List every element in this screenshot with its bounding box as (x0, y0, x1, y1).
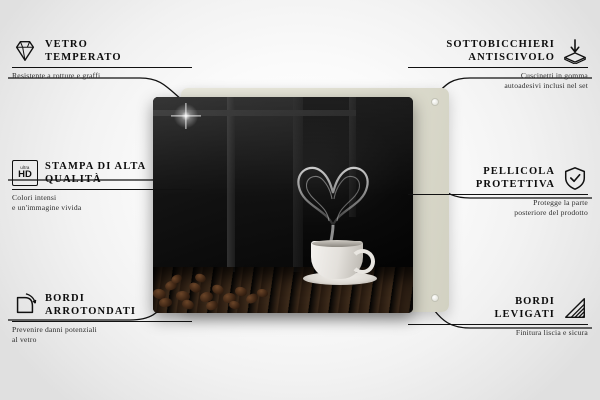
feature-subtitle-line2: e un'immagine vivida (12, 203, 192, 213)
feature-title-line1: BORDI (494, 295, 555, 308)
feature-bordi-arrotondati: BORDI ARROTONDATI Prevenire danni potenz… (12, 292, 192, 345)
coffee-bean (228, 300, 240, 310)
printed-scene (153, 97, 413, 313)
feature-subtitle-line2: al vetro (12, 335, 192, 345)
feature-title-line1: PELLICOLA (476, 165, 555, 178)
feature-title-line2: LEVIGATI (494, 308, 555, 321)
coffee-bean (256, 288, 268, 298)
feature-title-line1: BORDI (45, 292, 136, 305)
feature-title-line1: VETRO (45, 38, 122, 51)
rounded-corner-icon (12, 292, 38, 318)
feature-title-line2: PROTETTIVA (476, 178, 555, 191)
feature-title-line2: TEMPERATO (45, 51, 122, 64)
divider (12, 321, 192, 322)
feature-title-line1: STAMPA DI ALTA (45, 160, 146, 173)
cup-handle (350, 249, 375, 274)
divider (408, 324, 588, 325)
diamond-icon (12, 38, 38, 64)
ultra-hd-badge-icon: ultra HD (12, 160, 38, 186)
feature-sottobicchieri-antiscivolo: SOTTOBICCHIERI ANTISCIVOLO Cuscinetti in… (408, 38, 588, 91)
divider (408, 194, 588, 195)
product-infographic: VETRO TEMPERATO Resistente a rotture e g… (0, 0, 600, 400)
feature-subtitle-line2: posteriore del prodotto (408, 208, 588, 218)
feature-subtitle-line1: Resistente a rotture e graffi (12, 71, 192, 81)
feature-title-line2: ARROTONDATI (45, 305, 136, 318)
feature-subtitle-line1: Colori intensi (12, 193, 192, 203)
coffee-bean (211, 283, 226, 296)
feature-title-line2: ANTISCIVOLO (446, 51, 555, 64)
divider (408, 67, 588, 68)
feature-subtitle-line2: autoadesivi inclusi nel set (408, 81, 588, 91)
feature-title-line2: QUALITÀ (45, 173, 146, 186)
divider (12, 67, 192, 68)
feature-subtitle-line1: Cuscinetti in gomma (408, 71, 588, 81)
feature-stampa-alta-qualita: ultra HD STAMPA DI ALTA QUALITÀ Colori i… (12, 160, 192, 213)
feature-subtitle-line1: Prevenire danni potenziali (12, 325, 192, 335)
divider (12, 189, 192, 190)
diagonal-stripes-icon (562, 295, 588, 321)
feature-pellicola-protettiva: PELLICOLA PROTETTIVA Protegge la parte p… (408, 165, 588, 218)
feature-title-line1: SOTTOBICCHIERI (446, 38, 555, 51)
coffee-bean (234, 286, 248, 298)
anti-slip-pad-icon (562, 38, 588, 64)
cup-rim (312, 240, 362, 247)
coffee-cup (303, 233, 377, 285)
corner-pad (431, 98, 439, 106)
shield-check-icon (562, 165, 588, 191)
feature-subtitle-line1: Protegge la parte (408, 198, 588, 208)
badge-bottom-label: HD (18, 170, 32, 180)
sparkle-highlight (171, 101, 201, 131)
product-image (153, 88, 449, 320)
feature-vetro-temperato: VETRO TEMPERATO Resistente a rotture e g… (12, 38, 192, 81)
feature-bordi-levigati: BORDI LEVIGATI Finitura liscia e sicura (408, 295, 588, 338)
glass-board (153, 97, 413, 313)
feature-subtitle-line1: Finitura liscia e sicura (408, 328, 588, 338)
